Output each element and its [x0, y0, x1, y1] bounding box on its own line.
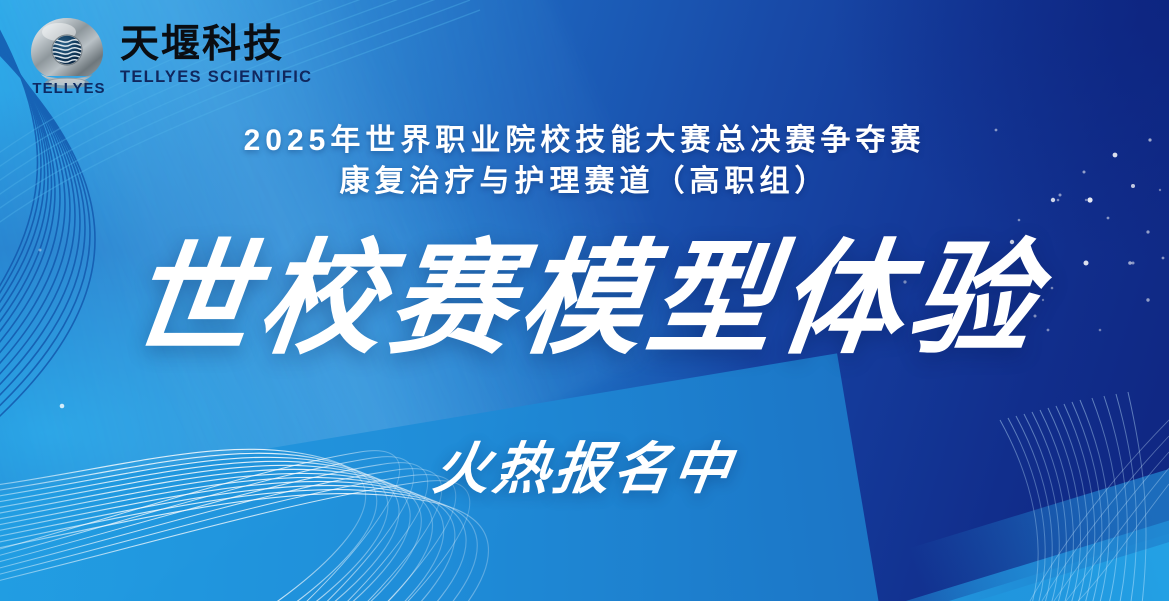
registration-status-text: 火热报名中: [0, 424, 1169, 505]
brand-wordmark: 天堰科技 TELLYES SCIENTIFIC: [120, 25, 312, 88]
brand-name-cn: 天堰科技: [120, 25, 312, 66]
brand-name-en: TELLYES SCIENTIFIC: [120, 68, 312, 87]
event-subtitle-line-1: 2025年世界职业院校技能大赛总决赛争夺赛: [0, 120, 1169, 161]
tellyes-sphere-logo-icon: TELLYES: [28, 16, 106, 96]
brand-logo: TELLYES 天堰科技 TELLYES SCIENTIFIC: [28, 16, 312, 96]
promo-banner: TELLYES 天堰科技 TELLYES SCIENTIFIC 2025年世界职…: [0, 0, 1169, 601]
page-title: 世校赛模型体验: [0, 238, 1169, 362]
event-subtitle-line-2: 康复治疗与护理赛道（高职组）: [0, 161, 1169, 202]
event-subtitle: 2025年世界职业院校技能大赛总决赛争夺赛 康复治疗与护理赛道（高职组）: [0, 120, 1169, 203]
logo-mark-caption: TELLYES: [30, 80, 108, 97]
